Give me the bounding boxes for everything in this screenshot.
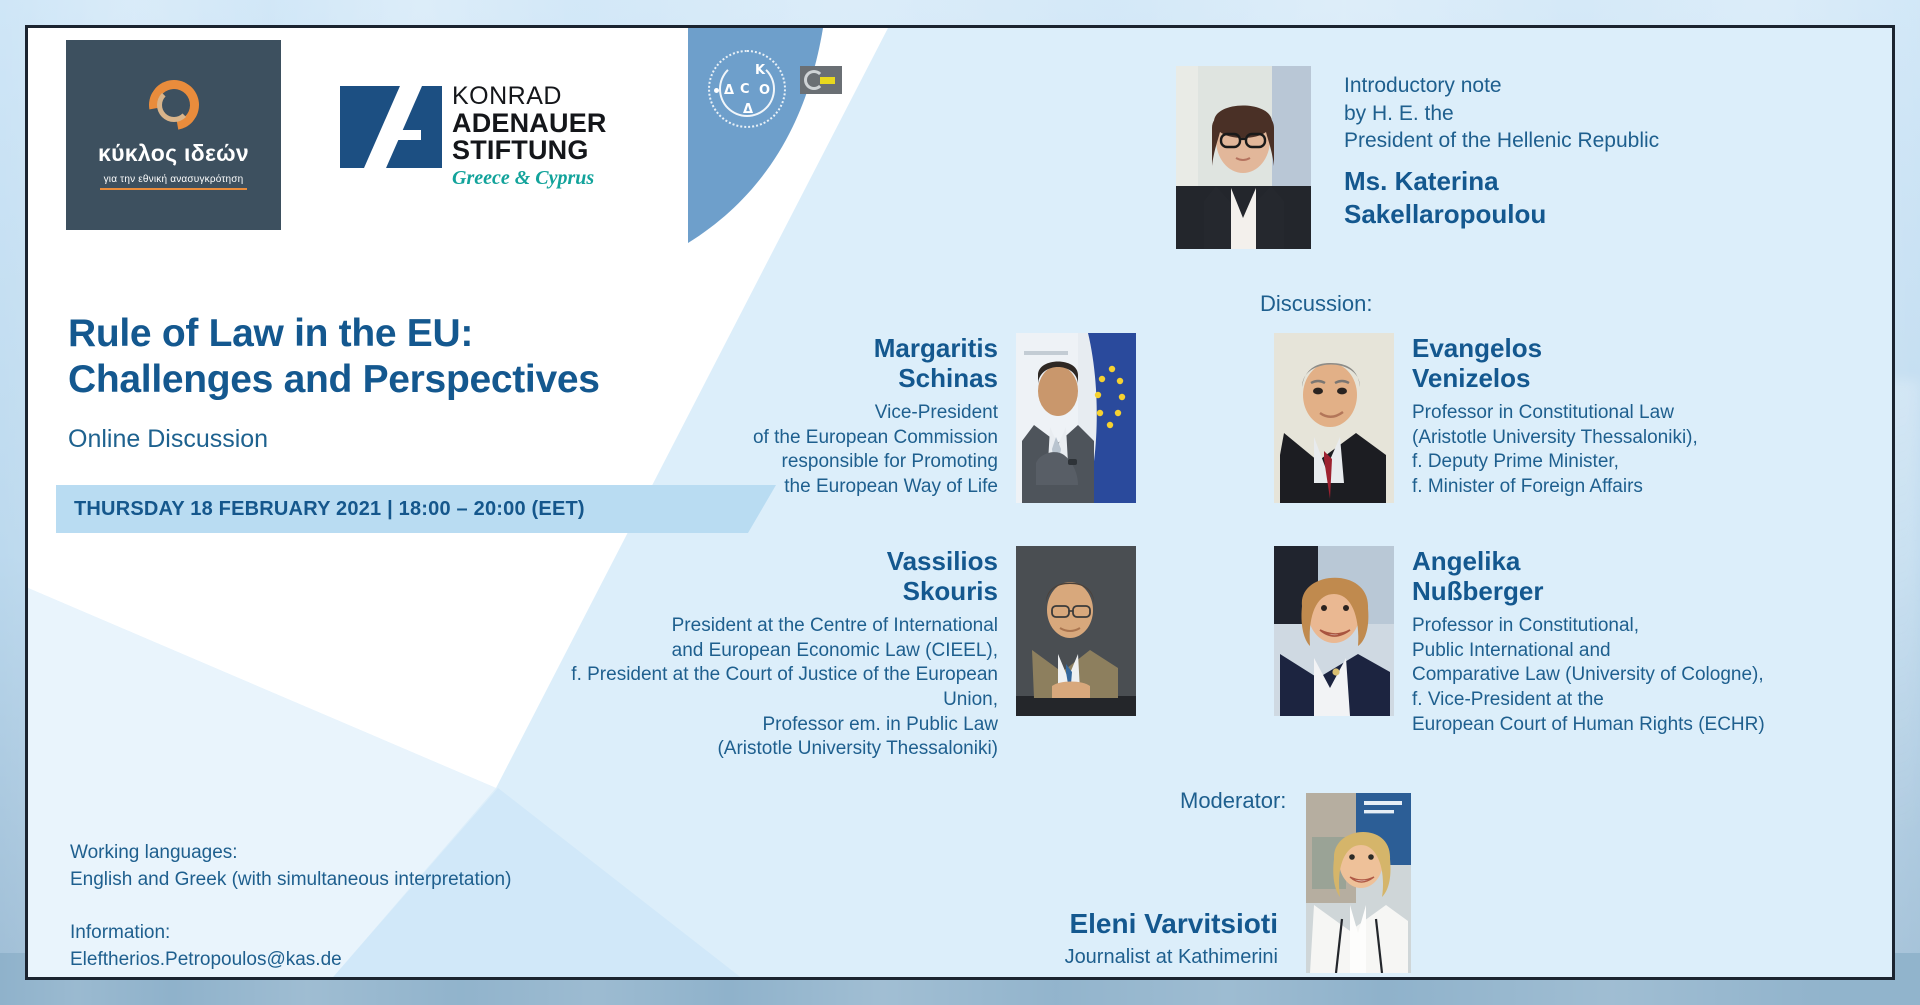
kyklos-ideon-logo: κύκλος ιδεών για την εθνική ανασυγκρότησ… (66, 40, 281, 230)
intro-line-1: Introductory note (1344, 72, 1659, 100)
kdeo-letter-delta2: Δ (743, 102, 753, 117)
speaker-first-name: Vassilios (887, 546, 998, 576)
speaker-row-2: Vassilios Skouris President at the Centr… (728, 546, 1832, 762)
kdeo-letter-omicron: O (759, 83, 770, 98)
speaker-first-name: Margaritis (874, 333, 998, 363)
moderator-text-block: Eleni Varvitsioti Journalist at Kathimer… (1008, 793, 1278, 969)
intro-speaker-name-line2: Sakellaropoulou (1344, 199, 1546, 229)
kyklos-logo-tagline: για την εθνική ανασυγκρότηση (100, 174, 248, 190)
introductory-note-row: Introductory note by H. E. the President… (1176, 66, 1659, 249)
avatar-evangelos-venizelos (1274, 333, 1394, 503)
headline-block: Rule of Law in the EU: Challenges and Pe… (68, 311, 788, 454)
logo-row: κύκλος ιδεών για την εθνική ανασυγκρότησ… (28, 28, 928, 253)
speaker-desc-skouris: President at the Centre of International… (538, 614, 998, 762)
speaker-desc-nussberger: Professor in Constitutional, Public Inte… (1412, 614, 1832, 737)
speaker-block-schinas: Margaritis Schinas Vice-President of the… (728, 333, 998, 500)
speaker-last-name: Nußberger (1412, 576, 1543, 606)
event-date-text: THURSDAY 18 FEBRUARY 2021 | 18:00 – 20:0… (74, 498, 585, 521)
kyklos-logo-name: κύκλος ιδεών (98, 140, 249, 167)
kas-logo-line2: ADENAUER (452, 110, 607, 138)
speaker-desc-venizelos: Professor in Constitutional Law (Aristot… (1412, 401, 1772, 500)
speaker-block-skouris: Vassilios Skouris President at the Centr… (728, 546, 998, 762)
kdeo-logo: K Δ C O Δ (688, 28, 928, 253)
speaker-desc-schinas: Vice-President of the European Commissio… (728, 401, 998, 500)
kas-logo-line1: KONRAD (452, 84, 607, 110)
intro-speaker-name-line1: Ms. Katerina (1344, 166, 1499, 196)
avatar-vassilios-skouris (1016, 546, 1136, 716)
speaker-name-nussberger: Angelika Nußberger (1412, 546, 1832, 607)
intro-speaker-name: Ms. Katerina Sakellaropoulou (1344, 165, 1659, 230)
contact-email[interactable]: Eleftherios.Petropoulos@kas.de (70, 947, 511, 974)
konrad-adenauer-stiftung-logo: KONRAD ADENAUER STIFTUNG Greece & Cyprus (340, 86, 625, 206)
portrait-illustration (1306, 793, 1411, 973)
speaker-last-name: Venizelos (1412, 363, 1531, 393)
speaker-first-name: Evangelos (1412, 333, 1542, 363)
partner-small-logo-icon (800, 66, 842, 108)
intro-line-3: President of the Hellenic Republic (1344, 127, 1659, 155)
speaker-block-nussberger: Angelika Nußberger Professor in Constitu… (1412, 546, 1832, 737)
kdeo-letter-c: C (740, 82, 750, 97)
avatar-eleni-varvitsioti (1306, 793, 1411, 973)
kdeo-emblem-icon: K Δ C O Δ (708, 50, 786, 128)
kas-logo-region: Greece & Cyprus (452, 167, 607, 190)
page-subtitle: Online Discussion (68, 425, 788, 454)
speaker-name-schinas: Margaritis Schinas (728, 333, 998, 394)
information-label: Information: (70, 920, 511, 947)
introductory-note-text: Introductory note by H. E. the President… (1344, 66, 1659, 249)
speaker-first-name: Angelika (1412, 546, 1520, 576)
page-title-line2: Challenges and Perspectives (68, 358, 600, 401)
avatar-margaritis-schinas (1016, 333, 1136, 503)
avatar-katerina-sakellaropoulou (1176, 66, 1311, 249)
moderator-name: Eleni Varvitsioti (1008, 908, 1278, 940)
intro-line-2: by H. E. the (1344, 100, 1659, 128)
speaker-row-1: Margaritis Schinas Vice-President of the… (728, 333, 1772, 503)
info-block: Working languages: English and Greek (wi… (70, 840, 511, 974)
speaker-last-name: Schinas (898, 363, 998, 393)
moderator-role: Journalist at Kathimerini (1008, 946, 1278, 969)
event-poster: κύκλος ιδεών για την εθνική ανασυγκρότησ… (25, 25, 1895, 980)
moderator-row: Eleni Varvitsioti Journalist at Kathimer… (1008, 793, 1411, 973)
avatar-angelika-nussberger (1274, 546, 1394, 716)
speaker-block-venizelos: Evangelos Venizelos Professor in Constit… (1412, 333, 1772, 500)
kas-monogram-icon (340, 86, 442, 168)
working-languages-value: English and Greek (with simultaneous int… (70, 867, 511, 894)
kyklos-circle-icon (149, 80, 199, 130)
event-date-bar: THURSDAY 18 FEBRUARY 2021 | 18:00 – 20:0… (56, 485, 776, 533)
portrait-illustration (1176, 66, 1311, 249)
working-languages-label: Working languages: (70, 840, 511, 867)
speaker-last-name: Skouris (903, 576, 998, 606)
kas-logo-line3: STIFTUNG (452, 137, 607, 165)
speaker-name-venizelos: Evangelos Venizelos (1412, 333, 1772, 394)
speaker-name-skouris: Vassilios Skouris (728, 546, 998, 607)
portrait-illustration (1274, 333, 1394, 503)
page-title-line1: Rule of Law in the EU: (68, 312, 473, 355)
portrait-illustration (1016, 333, 1136, 503)
discussion-label: Discussion: (1260, 291, 1372, 317)
kdeo-letter-kappa: K (755, 63, 765, 78)
page-title: Rule of Law in the EU: Challenges and Pe… (68, 311, 788, 403)
kdeo-letter-delta1: Δ (724, 83, 734, 98)
portrait-illustration (1274, 546, 1394, 716)
portrait-illustration (1016, 546, 1136, 716)
